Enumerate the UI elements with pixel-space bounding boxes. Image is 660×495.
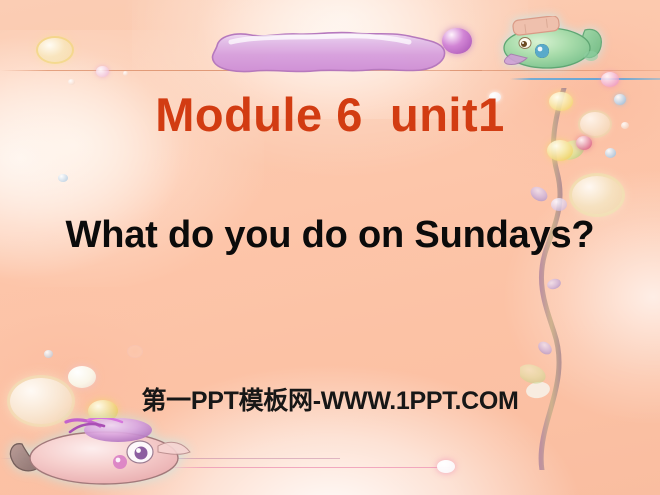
slide-subtitle: What do you do on Sundays?: [0, 216, 660, 256]
watermark-text: 第一PPT模板网-WWW.1PPT.COM: [0, 388, 660, 416]
slide-title: Module 6 unit1: [0, 90, 660, 139]
presentation-slide: Module 6 unit1 What do you do on Sundays…: [0, 0, 660, 495]
